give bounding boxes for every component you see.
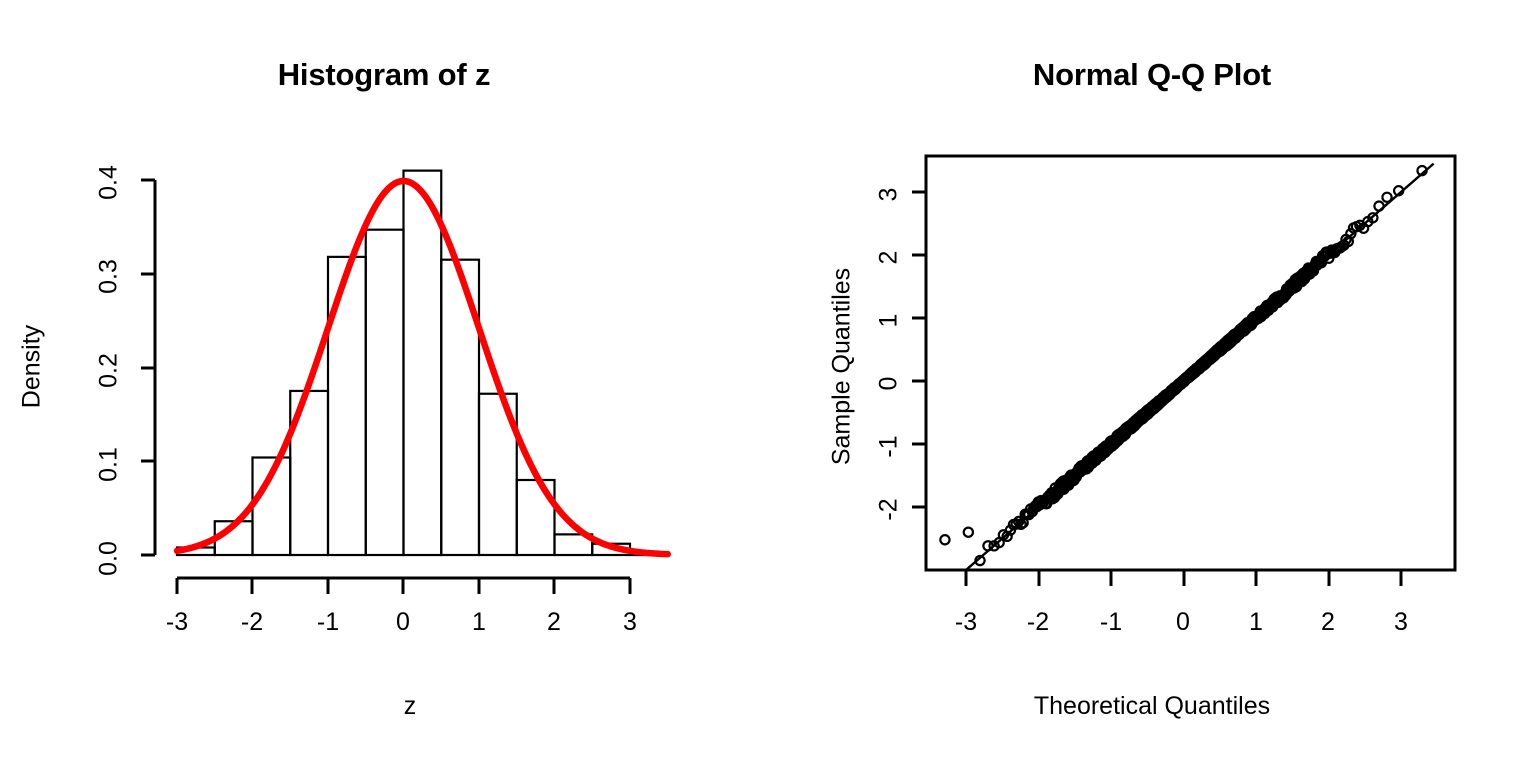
qqplot-point <box>1213 345 1222 354</box>
qqplot-point <box>1051 483 1060 492</box>
qqplot-x-axis-label: Theoretical Quantiles <box>768 692 1536 721</box>
qqplot-point <box>1097 450 1106 459</box>
qqplot-point <box>1164 390 1173 399</box>
qqplot-point <box>1133 416 1142 425</box>
qqplot-point <box>1162 393 1171 402</box>
qqplot-point <box>1172 383 1181 392</box>
qqplot-point <box>1176 379 1185 388</box>
qqplot-point <box>1108 440 1117 449</box>
qqplot-point <box>1178 377 1187 386</box>
qqplot-point <box>1152 399 1161 408</box>
qqplot-point <box>1344 237 1353 246</box>
qqplot-point <box>1196 360 1205 369</box>
qqplot-point <box>1185 370 1194 379</box>
qqplot-point <box>1262 306 1271 315</box>
qqplot-point <box>1170 385 1179 394</box>
qqplot-point <box>1105 440 1114 449</box>
qqplot-point <box>1109 439 1118 448</box>
qqplot-point <box>1323 248 1332 257</box>
qqplot-point <box>1079 462 1088 471</box>
qqplot-point <box>1003 532 1012 541</box>
qqplot-point <box>1159 394 1168 403</box>
qqplot-point <box>1133 415 1142 424</box>
qqplot-point <box>1352 222 1361 231</box>
qqplot-point <box>1193 363 1202 372</box>
qqplot-point <box>1309 266 1318 275</box>
qqplot-point <box>1167 386 1176 395</box>
qqplot-point <box>1250 312 1259 321</box>
qqplot-point <box>1382 193 1391 202</box>
qqplot-point <box>1169 384 1178 393</box>
qqplot-point <box>1181 374 1190 383</box>
qqplot-point <box>1139 413 1148 422</box>
qqplot-point <box>1149 404 1158 413</box>
qqplot-point <box>1232 329 1241 338</box>
qqplot-point <box>1212 349 1221 358</box>
qqplot-point <box>1145 406 1154 415</box>
qqplot-point <box>1169 386 1178 395</box>
qqplot-point <box>1283 285 1292 294</box>
qqplot-point <box>1200 359 1209 368</box>
qqplot-point <box>1134 414 1143 423</box>
qqplot-point <box>1276 295 1285 304</box>
qqplot-point <box>1286 284 1295 293</box>
qqplot-point <box>1247 317 1256 326</box>
qqplot-point <box>1093 452 1102 461</box>
qqplot-point <box>1294 277 1303 286</box>
qqplot-point <box>1102 443 1111 452</box>
qqplot-point <box>1167 387 1176 396</box>
qqplot-point <box>1147 406 1156 415</box>
qqplot-point <box>1160 393 1169 402</box>
qqplot-point <box>1268 302 1277 311</box>
qqplot-point <box>1208 353 1217 362</box>
qqplot-title: Normal Q-Q Plot <box>768 56 1536 94</box>
qqplot-point <box>1225 337 1234 346</box>
qqplot-point <box>1339 241 1348 250</box>
qqplot-point <box>1160 392 1169 401</box>
qqplot-point <box>1248 316 1257 325</box>
qqplot-point <box>1176 378 1185 387</box>
qqplot-point <box>1206 351 1215 360</box>
qqplot-point <box>1285 286 1294 295</box>
qqplot-point <box>1078 462 1087 471</box>
qqplot-point <box>1256 312 1265 321</box>
qqplot-point <box>1197 361 1206 370</box>
qqplot-point <box>1277 292 1286 301</box>
qqplot-point <box>1143 406 1152 415</box>
qqplot-point <box>1207 351 1216 360</box>
qqplot-point <box>1221 342 1230 351</box>
qqplot-point <box>1200 360 1209 369</box>
qqplot-point <box>1133 416 1142 425</box>
qqplot-point <box>1226 333 1235 342</box>
qqplot-point <box>1163 389 1172 398</box>
qqplot-point <box>1152 401 1161 410</box>
qqplot-point <box>1100 443 1109 452</box>
qqplot-point <box>1121 430 1130 439</box>
qqplot-point <box>1133 414 1142 423</box>
qqplot-x-ticks <box>966 570 1401 586</box>
qqplot-point <box>1088 455 1097 464</box>
qqplot-point <box>1240 326 1249 335</box>
qqplot-point <box>1302 267 1311 276</box>
qqplot-point <box>1171 384 1180 393</box>
qqplot-point <box>1213 346 1222 355</box>
qqplot-point <box>1171 383 1180 392</box>
qqplot-point <box>1229 333 1238 342</box>
qqplot-point <box>1271 294 1280 303</box>
qqplot-point <box>1153 401 1162 410</box>
qqplot-point <box>1156 398 1165 407</box>
qqplot-point <box>1149 404 1158 413</box>
qqplot-point <box>1111 434 1120 443</box>
qqplot-point <box>1149 404 1158 413</box>
qqplot-point <box>1110 437 1119 446</box>
qqplot-point <box>1341 235 1350 244</box>
qqplot-point <box>1180 377 1189 386</box>
qqplot-point <box>1141 408 1150 417</box>
qqplot-point <box>1268 297 1277 306</box>
qqplot-point <box>1235 328 1244 337</box>
qqplot-point <box>1214 346 1223 355</box>
qqplot-point <box>1122 426 1131 435</box>
qqplot-point <box>1193 365 1202 374</box>
qqplot-point <box>1049 493 1058 502</box>
qqplot-point <box>1203 356 1212 365</box>
qqplot-point <box>1166 389 1175 398</box>
qqplot-point <box>1087 456 1096 465</box>
qqplot-point <box>1174 380 1183 389</box>
qqplot-point <box>1233 330 1242 339</box>
qqplot-point <box>1072 472 1081 481</box>
qqplot-point <box>1114 430 1123 439</box>
histogram-bar <box>177 548 215 556</box>
qqplot-point <box>1202 355 1211 364</box>
qqplot-point <box>1048 494 1057 503</box>
qqplot-point <box>1112 431 1121 440</box>
qqplot-point <box>1337 242 1346 251</box>
qqplot-point <box>1316 255 1325 264</box>
qqplot-point <box>1223 338 1232 347</box>
qqplot-point <box>1242 319 1251 328</box>
qqplot-point <box>1205 354 1214 363</box>
qqplot-point <box>1150 400 1159 409</box>
qqplot-point <box>1145 404 1154 413</box>
qqplot-point <box>1183 373 1192 382</box>
qqplot-point <box>1168 386 1177 395</box>
qqplot-point <box>1216 343 1225 352</box>
qqplot-point <box>1249 312 1258 321</box>
qqplot-point <box>1192 366 1201 375</box>
qqplot-point <box>1160 391 1169 400</box>
qqplot-point <box>1133 414 1142 423</box>
qqplot-point <box>1224 335 1233 344</box>
qqplot-point <box>1142 406 1151 415</box>
qqplot-point <box>1227 335 1236 344</box>
qqplot-point <box>1251 312 1260 321</box>
qqplot-point <box>1199 358 1208 367</box>
qqplot-point <box>1169 386 1178 395</box>
qqplot-point <box>1043 493 1052 502</box>
qqplot-point <box>1146 407 1155 416</box>
qqplot-point <box>1259 307 1268 316</box>
qqplot-point <box>1021 510 1030 519</box>
qqplot-point <box>1023 510 1032 519</box>
qqplot-point <box>1327 245 1336 254</box>
qqplot-point <box>1153 398 1162 407</box>
qqplot-point <box>1190 368 1199 377</box>
qqplot-xtick-2: 2 <box>1298 608 1358 637</box>
qqplot-point <box>1056 480 1065 489</box>
qqplot-panel: Normal Q-Q Plot Sample Quantiles 3 2 1 0… <box>768 0 1536 768</box>
qqplot-point <box>1236 325 1245 334</box>
qqplot-point <box>1228 333 1237 342</box>
qqplot-y-ticks <box>912 192 926 507</box>
qqplot-point <box>1195 363 1204 372</box>
qqplot-point <box>1245 321 1254 330</box>
qqplot-point <box>1192 365 1201 374</box>
qqplot-point <box>1170 384 1179 393</box>
qqplot-point <box>1052 487 1061 496</box>
qqplot-point <box>1214 346 1223 355</box>
qqplot-point <box>1201 358 1210 367</box>
qqplot-point <box>1116 432 1125 441</box>
qqplot-point <box>1171 385 1180 394</box>
qqplot-point <box>1208 352 1217 361</box>
qqplot-point <box>1255 310 1264 319</box>
qqplot-point <box>1149 403 1158 412</box>
qqplot-point <box>1159 393 1168 402</box>
qqplot-point <box>1029 504 1038 513</box>
qqplot-point <box>1121 425 1130 434</box>
qqplot-point <box>1080 465 1089 474</box>
histogram-xtick-1: 1 <box>449 608 509 637</box>
qqplot-point <box>1099 445 1108 454</box>
qqplot-point <box>1107 436 1116 445</box>
qqplot-point <box>1229 332 1238 341</box>
qqplot-point <box>1195 363 1204 372</box>
qqplot-point <box>1241 325 1250 334</box>
qqplot-point <box>1083 461 1092 470</box>
qqplot-point <box>1211 348 1220 357</box>
qqplot-point <box>1184 372 1193 381</box>
qqplot-point <box>1120 427 1129 436</box>
qqplot-point <box>1112 433 1121 442</box>
qqplot-point <box>1072 470 1081 479</box>
qqplot-point <box>1153 398 1162 407</box>
qqplot-point <box>1186 371 1195 380</box>
qqplot-point <box>1248 314 1257 323</box>
qqplot-point <box>1333 244 1342 253</box>
qqplot-point <box>1173 380 1182 389</box>
qqplot-point <box>1242 324 1251 333</box>
qqplot-point <box>1132 418 1141 427</box>
qqplot-xtick-3: 3 <box>1371 608 1431 637</box>
qqplot-point <box>1319 252 1328 261</box>
qqplot-point <box>1261 304 1270 313</box>
qqplot-point <box>1225 335 1234 344</box>
qqplot-point <box>1275 293 1284 302</box>
qqplot-point <box>1213 348 1222 357</box>
qqplot-point <box>1089 454 1098 463</box>
qqplot-point <box>1028 507 1037 516</box>
qqplot-point <box>1014 517 1023 526</box>
qqplot-point <box>1105 441 1114 450</box>
qqplot-point <box>1279 293 1288 302</box>
qqplot-point <box>1244 321 1253 330</box>
qqplot-point <box>1175 379 1184 388</box>
qqplot-point <box>1241 320 1250 329</box>
qqplot-point <box>1204 356 1213 365</box>
qqplot-point <box>1207 353 1216 362</box>
qqplot-point <box>1098 444 1107 453</box>
qqplot-point <box>1141 408 1150 417</box>
qqplot-point <box>1204 354 1213 363</box>
qqplot-point <box>1127 423 1136 432</box>
qqplot-point <box>1165 390 1174 399</box>
qqplot-point <box>1134 414 1143 423</box>
qqplot-point <box>1229 331 1238 340</box>
qqplot-point <box>1016 520 1025 529</box>
qqplot-point <box>1284 287 1293 296</box>
qqplot-point <box>1106 437 1115 446</box>
qqplot-point <box>1148 404 1157 413</box>
qqplot-point <box>1157 396 1166 405</box>
qqplot-point <box>1230 333 1239 342</box>
qqplot-point <box>999 530 1008 539</box>
qqplot-point <box>1158 395 1167 404</box>
qqplot-point <box>1242 322 1251 331</box>
qqplot-point <box>1223 338 1232 347</box>
qqplot-point <box>1215 347 1224 356</box>
qqplot-point <box>1126 423 1135 432</box>
qqplot-point <box>1147 403 1156 412</box>
qqplot-point <box>1196 361 1205 370</box>
qqplot-point <box>1228 334 1237 343</box>
qqplot-point <box>1194 363 1203 372</box>
qqplot-point <box>1143 406 1152 415</box>
qqplot-point <box>1166 387 1175 396</box>
qqplot-point <box>1166 386 1175 395</box>
qqplot-point <box>1218 341 1227 350</box>
qqplot-point <box>1179 377 1188 386</box>
qqplot-point <box>1167 387 1176 396</box>
qqplot-point <box>1115 430 1124 439</box>
qqplot-point <box>1115 429 1124 438</box>
qqplot-point <box>1359 224 1368 233</box>
qqplot-point <box>1252 314 1261 323</box>
qqplot-point <box>1299 269 1308 278</box>
qqplot-point <box>1253 311 1262 320</box>
qqplot-point <box>1119 432 1128 441</box>
qqplot-point <box>1211 346 1220 355</box>
qqplot-point <box>1091 456 1100 465</box>
qqplot-point <box>1190 366 1199 375</box>
qqplot-point <box>1186 369 1195 378</box>
qqplot-point <box>1006 526 1015 535</box>
qqplot-point <box>1164 389 1173 398</box>
qqplot-point <box>1256 306 1265 315</box>
qqplot-point <box>1204 354 1213 363</box>
qqplot-point <box>1299 271 1308 280</box>
qqplot-point <box>1181 375 1190 384</box>
qqplot-point <box>1156 397 1165 406</box>
qqplot-point <box>1156 396 1165 405</box>
qqplot-point <box>1277 292 1286 301</box>
normal-density-curve <box>177 181 668 554</box>
qqplot-point <box>1111 438 1120 447</box>
qqplot-point <box>1203 354 1212 363</box>
qqplot-point <box>1224 339 1233 348</box>
qqplot-point <box>1158 396 1167 405</box>
qqplot-point <box>1220 342 1229 351</box>
qqplot-point <box>1063 479 1072 488</box>
qqplot-point <box>1189 366 1198 375</box>
qqplot-point <box>1266 299 1275 308</box>
qqplot-point <box>1131 416 1140 425</box>
qqplot-point <box>1114 434 1123 443</box>
qqplot-point <box>1210 350 1219 359</box>
qqplot-point <box>1136 413 1145 422</box>
qqplot-point <box>1208 349 1217 358</box>
qqplot-point <box>1148 405 1157 414</box>
qqplot-point <box>1180 375 1189 384</box>
qqplot-point <box>1200 356 1209 365</box>
qqplot-point <box>1141 411 1150 420</box>
qqplot-point <box>1231 330 1240 339</box>
qqplot-point <box>1158 393 1167 402</box>
qqplot-point <box>1270 297 1279 306</box>
qqplot-point <box>1117 432 1126 441</box>
qqplot-point <box>1139 411 1148 420</box>
qqplot-point <box>1137 411 1146 420</box>
qqplot-point <box>1094 450 1103 459</box>
qqplot-point <box>1417 166 1426 175</box>
qqplot-point <box>1148 402 1157 411</box>
qqplot-point <box>1258 307 1267 316</box>
qqplot-point <box>1236 328 1245 337</box>
qqplot-point <box>1189 368 1198 377</box>
qqplot-point <box>1163 389 1172 398</box>
qqplot-point <box>1273 298 1282 307</box>
qqplot-point <box>1057 485 1066 494</box>
qqplot-point <box>1168 386 1177 395</box>
qqplot-point <box>1115 434 1124 443</box>
qqplot-point <box>1217 345 1226 354</box>
qqplot-point <box>1082 464 1091 473</box>
qqplot-point <box>1154 399 1163 408</box>
qqplot-point <box>1218 342 1227 351</box>
qqplot-point <box>1073 467 1082 476</box>
qqplot-point <box>1124 425 1133 434</box>
qqplot-point <box>1182 373 1191 382</box>
qqplot-point <box>1109 436 1118 445</box>
qqplot-point <box>1167 387 1176 396</box>
qqplot-point <box>1086 455 1095 464</box>
qqplot-point <box>1126 424 1135 433</box>
qqplot-point <box>1182 374 1191 383</box>
qqplot-point <box>1191 367 1200 376</box>
qqplot-point <box>1202 357 1211 366</box>
qqplot-point <box>1108 440 1117 449</box>
qqplot-point <box>1269 299 1278 308</box>
qqplot-point <box>1175 379 1184 388</box>
qqplot-point <box>1081 463 1090 472</box>
qqplot-point <box>1188 369 1197 378</box>
qqplot-point <box>1037 496 1046 505</box>
qqplot-point <box>1193 364 1202 373</box>
